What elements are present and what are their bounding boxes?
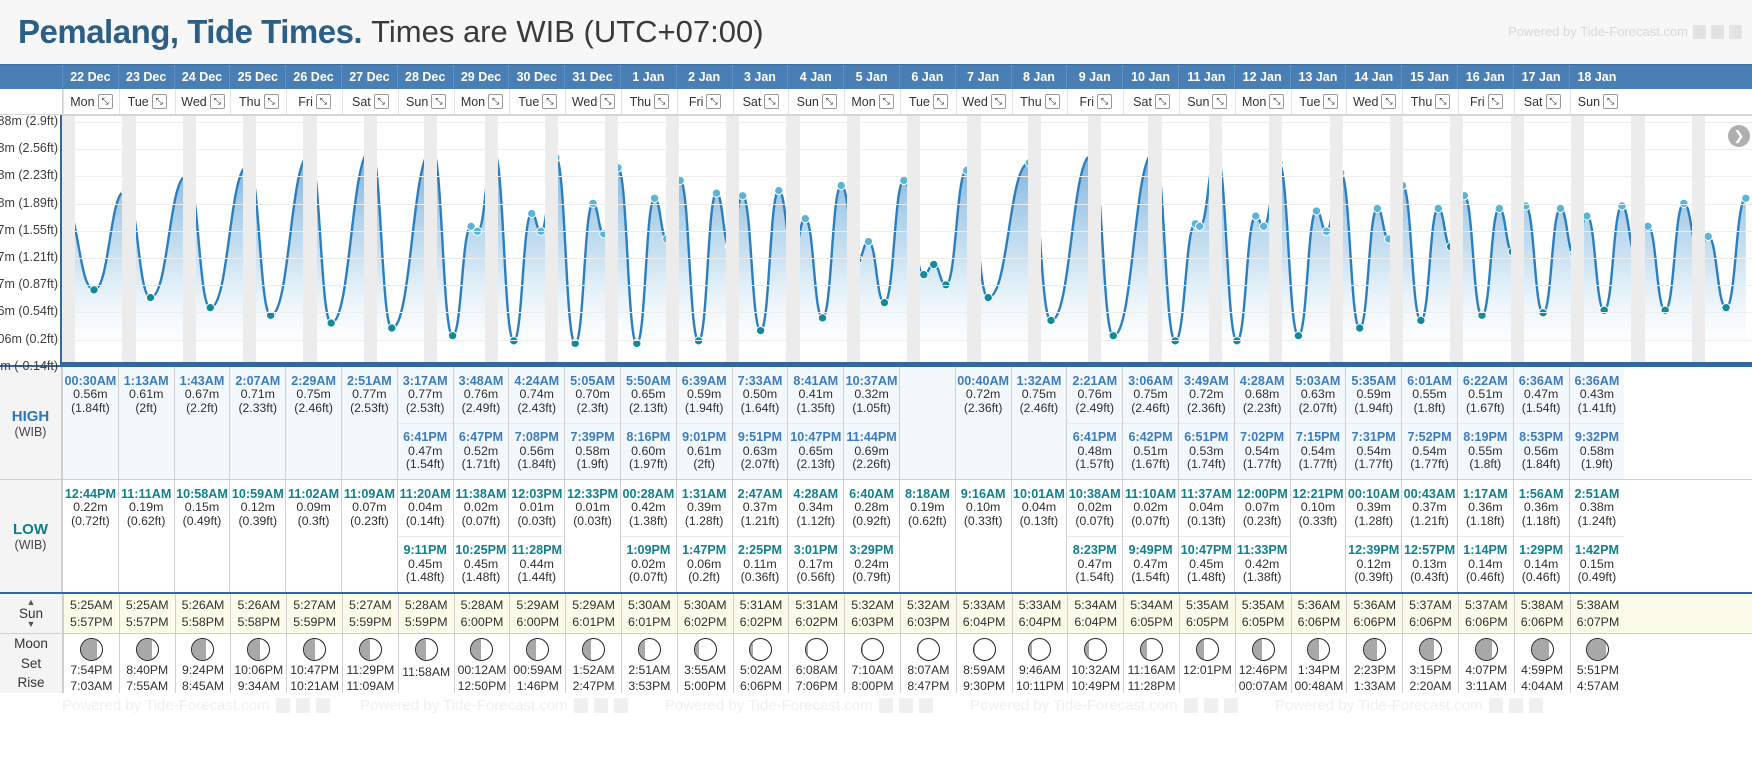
footer-logo-icon-1 [276,698,290,713]
expand-day-icon[interactable]: ⤡ [374,94,389,109]
moon-set-time: 11:16AM [1128,663,1176,677]
moon-phase-icon [1140,638,1163,661]
sunset-time: 6:05PM [1130,615,1173,629]
high-tide-cell: 2:07AM0.71m(2.33ft) [229,367,285,479]
expand-day-icon[interactable]: ⤡ [1488,94,1503,109]
tide-height-feet: (0.46ft) [1522,571,1561,585]
tide-time: 6:42PM [1128,430,1172,444]
tide-time: 8:18AM [905,487,950,501]
moon-rise-time: 11:58AM [402,665,450,679]
tide-time: 2:07AM [235,374,280,388]
sun-cell: 5:26AM5:58PM [230,594,286,633]
tide-data-point [712,189,720,197]
low-tide-event: 11:33PM0.42m(1.38ft) [1235,536,1290,593]
chart-day-stripe [907,116,920,362]
tide-height-feet: (1.94ft) [1354,402,1393,416]
expand-day-icon[interactable]: ⤡ [822,94,837,109]
tide-time: 1:32AM [1017,374,1062,388]
sun-cell: 5:31AM6:02PM [733,594,789,633]
weekday-text: Mon [70,95,94,109]
tide-height-feet: (1.77ft) [1299,458,1338,472]
sunset-time: 6:05PM [1242,615,1285,629]
expand-day-icon[interactable]: ⤡ [1435,94,1450,109]
low-tide-event: 9:16AM0.10m(0.33ft) [956,480,1011,536]
weekday-cell: Tue⤡ [1291,89,1347,114]
moon-rise-time: 1:33AM [1354,679,1396,693]
sunset-time: 5:57PM [126,615,169,629]
sunrise-time: 5:36AM [1353,598,1396,612]
high-tide-cell: 3:06AM0.75m(2.46ft)6:42PM0.51m(1.67ft) [1122,367,1178,479]
tide-height-metric: 0.09m [296,501,330,515]
expand-day-icon[interactable]: ⤡ [991,94,1006,109]
tide-time: 6:36AM [1519,374,1564,388]
low-tide-cell: 11:20AM0.04m(0.14ft)9:11PM0.45m(1.48ft) [397,480,453,592]
tide-time: 11:20AM [400,487,451,501]
tide-time: 1:14PM [1463,543,1507,557]
high-tide-cell: 2:51AM0.77m(2.53ft) [341,367,397,479]
high-tide-cell: 2:29AM0.75m(2.46ft) [285,367,341,479]
expand-day-icon[interactable]: ⤡ [1045,94,1060,109]
tide-data-point [1252,212,1260,220]
moon-cell: 11:58AM [398,634,454,693]
tide-time: 1:31AM [682,487,727,501]
low-tide-cell: 12:44PM0.22m(0.72ft) [62,480,118,592]
date-header-cell[interactable]: 25 Dec [229,65,285,89]
tide-time: 2:29AM [291,374,336,388]
tide-height-feet: (0.14ft) [406,515,445,529]
weekday-text: Fri [1470,95,1485,109]
sunset-time: 6:04PM [1019,615,1062,629]
date-header-cell[interactable]: 1 Jan [620,65,676,89]
chart-day-stripe [1088,116,1101,362]
date-header-cell[interactable]: 24 Dec [174,65,230,89]
y-axis-tick-label: 0.37m (1.21ft) [0,250,58,264]
sunrise-time: 5:29AM [516,598,559,612]
tide-time: 11:37AM [1181,487,1232,501]
high-tide-event: 6:41PM0.47m(1.54ft) [398,423,453,480]
footer-text-3: Powered by Tide-Forecast.com [665,697,873,714]
expand-day-icon[interactable]: ⤡ [1155,94,1170,109]
chart-day-stripe [424,116,437,362]
tide-height-metric: 0.04m [1022,501,1056,515]
moon-cell: 5:02AM6:06PM [733,634,789,693]
low-tide-event: 2:47AM0.37m(1.21ft) [733,480,788,536]
expand-day-icon[interactable]: ⤡ [152,94,167,109]
scroll-right-button[interactable]: ❯ [1728,125,1750,147]
tide-data-point [1644,222,1652,230]
sunset-time: 6:07PM [1577,615,1620,629]
tide-time: 5:03AM [1296,374,1341,388]
moon-phase-icon [303,638,326,661]
expand-day-icon[interactable]: ⤡ [1323,94,1338,109]
tide-height-feet: (1.97ft) [629,458,668,472]
low-tide-event: 11:10AM0.02m(0.07ft) [1123,480,1178,536]
tide-height-feet: (2.07ft) [1299,402,1338,416]
tide-height-feet: (1.74ft) [1187,458,1226,472]
weekday-cell: Sat⤡ [342,89,398,114]
footer-watermark-2: Powered by Tide-Forecast.com [360,697,628,714]
high-tide-event: 3:06AM0.75m(2.46ft) [1123,367,1178,423]
expand-day-icon[interactable]: ⤡ [1546,94,1561,109]
tide-data-point [1373,204,1381,212]
tide-height-metric: 0.02m [631,558,665,572]
high-tide-event: 11:44PM0.69m(2.26ft) [844,423,899,480]
low-tide-event: 8:23PM0.47m(1.54ft) [1067,536,1122,593]
sunrise-time: 5:27AM [293,598,336,612]
weekday-cell: Thu⤡ [230,89,286,114]
expand-day-icon[interactable]: ⤡ [98,94,113,109]
high-tide-event: 1:32AM0.75m(2.46ft) [1012,367,1067,423]
date-header-cell[interactable]: 8 Jan [1011,65,1067,89]
low-tide-cell: 00:10AM0.39m(1.28ft)12:39PM0.12m(0.39ft) [1345,480,1401,592]
tide-height-feet: (1.38ft) [1243,571,1282,585]
sun-cell: 5:34AM6:04PM [1067,594,1123,633]
date-header-cell[interactable]: 23 Dec [118,65,174,89]
expand-day-icon[interactable]: ⤡ [879,94,894,109]
high-tide-cell: 8:41AM0.41m(1.35ft)10:47PM0.65m(2.13ft) [787,367,843,479]
tide-height-metric: 0.58m [1580,445,1614,459]
date-header-cell[interactable]: 14 Jan [1345,65,1401,89]
moon-set-time: 3:15PM [1410,663,1452,677]
tide-height-metric: 0.11m [743,558,777,572]
moon-rise-time: 5:00PM [684,679,726,693]
moon-set-time: 1:34PM [1298,663,1340,677]
high-tide-cell: 00:40AM0.72m(2.36ft) [955,367,1011,479]
low-label-text: LOW [13,521,48,538]
tide-height-metric: 0.01m [520,501,554,515]
tide-height-metric: 0.42m [1245,558,1279,572]
date-header-cell[interactable]: 3 Jan [732,65,788,89]
moon-cell: 3:55AM5:00PM [677,634,733,693]
tide-height-feet: (0.72ft) [71,515,110,529]
expand-day-icon[interactable]: ⤡ [1381,94,1396,109]
tide-time: 6:40AM [849,487,894,501]
footer-alert-icon-1 [316,698,330,713]
tide-time: 11:02AM [288,487,339,501]
expand-day-icon[interactable]: ⤡ [654,94,669,109]
low-tide-cell: 00:28AM0.42m(1.38ft)1:09PM0.02m(0.07ft) [620,480,676,592]
sun-cell: 5:30AM6:02PM [677,594,733,633]
footer-logo-icon-3 [879,698,893,713]
weekday-cell: Mon⤡ [1235,89,1291,114]
tide-height-feet: (1.38ft) [629,515,668,529]
low-tide-event: 12:03PM0.01m(0.03ft) [509,480,564,536]
expand-day-icon[interactable]: ⤡ [210,94,225,109]
sun-cell: 5:27AM5:59PM [342,594,398,633]
tide-height-feet: (1.28ft) [685,515,724,529]
low-tide-cell: 4:28AM0.34m(1.12ft)3:01PM0.17m(0.56ft) [787,480,843,592]
date-header-cell[interactable]: 27 Dec [341,65,397,89]
moon-phase-icon [191,638,214,661]
tide-height-feet: (1.48ft) [1187,571,1226,585]
moon-phase-icon [749,638,772,661]
tide-height-metric: 0.14m [1524,558,1558,572]
expand-day-icon[interactable]: ⤡ [706,94,721,109]
date-header-cell[interactable]: 6 Jan [899,65,955,89]
moon-set-time: 6:08AM [796,663,838,677]
sunrise-time: 5:26AM [182,598,225,612]
y-axis-tick-label: 0.68m (2.23ft) [0,168,58,182]
moon-set-time: 10:32AM [1071,663,1120,677]
high-tide-event: 3:49AM0.72m(2.36ft) [1179,367,1234,423]
footer-text-1: Powered by Tide-Forecast.com [62,697,270,714]
date-header-cell[interactable]: 16 Jan [1457,65,1513,89]
expand-day-icon[interactable]: ⤡ [1097,94,1112,109]
tide-height-metric: 0.75m [296,388,330,402]
tide-height-metric: 0.74m [520,388,554,402]
weekday-text: Sun [406,95,428,109]
date-header-cell[interactable]: 31 Dec [564,65,620,89]
low-label-tz: (WIB) [15,538,47,552]
footer-watermark-3: Powered by Tide-Forecast.com [665,697,933,714]
sun-cell: 5:36AM6:06PM [1291,594,1347,633]
tide-time: 10:01AM [1013,487,1065,501]
high-tide-cell: 6:22AM0.51m(1.67ft)8:19PM0.55m(1.8ft) [1457,367,1513,479]
date-header-spacer [0,65,62,89]
tide-time: 11:38AM [455,487,506,501]
sunset-time: 6:06PM [1465,615,1508,629]
expand-day-icon[interactable]: ⤡ [431,94,446,109]
sunset-arrow-icon: ▼ [27,620,36,629]
tide-height-metric: 0.77m [352,388,386,402]
high-tide-event: 5:03AM0.63m(2.07ft) [1291,367,1346,423]
expand-day-icon[interactable]: ⤡ [600,94,615,109]
expand-day-icon[interactable]: ⤡ [488,94,503,109]
date-header-cell[interactable]: 2 Jan [676,65,732,89]
tide-height-metric: 0.17m [799,558,833,572]
date-header-cell[interactable]: 29 Dec [453,65,509,89]
high-tide-event: 9:32PM0.58m(1.9ft) [1570,423,1625,480]
tide-time: 7:39PM [571,430,615,444]
sunrise-time: 5:38AM [1521,598,1564,612]
chart-day-stripe [1209,116,1222,362]
y-axis-tick-label: 0.58m (1.89ft) [0,196,58,210]
moon-phase-icon [247,638,270,661]
date-header-cell[interactable]: 15 Jan [1401,65,1457,89]
date-header-cell[interactable]: 10 Jan [1122,65,1178,89]
tide-height-metric: 0.04m [1189,501,1223,515]
footer-share-icon-5 [1509,698,1523,713]
sun-cell: 5:33AM6:04PM [956,594,1012,633]
weekday-cell: Fri⤡ [286,89,342,114]
tide-data-point [1233,337,1241,345]
moon-rise-time: 4:04AM [1521,679,1563,693]
weekday-text: Wed [181,95,206,109]
tide-time: 2:47AM [738,487,783,501]
tide-height-metric: 0.59m [687,388,721,402]
tide-height-metric: 0.07m [1245,501,1279,515]
tide-time: 8:16PM [626,430,670,444]
moon-label-text: Moon [14,634,48,654]
date-header-cell[interactable]: 18 Jan [1569,65,1625,89]
chart-day-stripe [847,116,860,362]
moon-set-time: 4:07PM [1465,663,1507,677]
moon-rise-time: 8:00PM [852,679,894,693]
footer-alert-icon-2 [614,698,628,713]
tide-height-metric: 0.76m [1078,388,1112,402]
date-text: 11 Jan [1187,70,1225,84]
tide-height-metric: 0.37m [743,501,777,515]
sunrise-time: 5:27AM [349,598,392,612]
tide-height-metric: 0.63m [1301,388,1335,402]
chart-day-stripe [1269,116,1282,362]
date-header-cell[interactable]: 26 Dec [285,65,341,89]
moon-cell: 1:52AM2:47PM [565,634,621,693]
tide-height-metric: 0.45m [408,558,442,572]
tide-time: 00:40AM [957,374,1009,388]
tide-time: 5:50AM [626,374,671,388]
tide-data-point [510,337,518,345]
low-tide-cell: 11:11AM0.19m(0.62ft) [118,480,174,592]
tide-data-point [1417,316,1425,324]
tide-height-feet: (1.9ft) [1581,458,1613,472]
moon-set-time: 8:59AM [963,663,1005,677]
high-tide-event: 6:01AM0.55m(1.8ft) [1402,367,1457,423]
date-header-cell[interactable]: 22 Dec [62,65,118,89]
weekday-text: Tue [1299,95,1320,109]
sun-label-text: Sun [19,607,43,621]
tide-time: 3:17AM [403,374,448,388]
tide-height-feet: (0.33ft) [1299,515,1338,529]
tide-data-point [1704,232,1712,240]
high-tide-cell: 6:01AM0.55m(1.8ft)7:52PM0.54m(1.77ft) [1401,367,1457,479]
tide-time: 10:38AM [1069,487,1121,501]
tide-time: 10:47PM [790,430,841,444]
expand-day-icon[interactable]: ⤡ [316,94,331,109]
tide-height-metric: 0.48m [1078,445,1112,459]
tide-height-feet: (0.46ft) [1466,571,1505,585]
weekday-cell: Tue⤡ [509,89,565,114]
date-text: 4 Jan [800,70,832,84]
date-text: 24 Dec [182,70,222,84]
high-tide-event: 00:30AM0.56m(1.84ft) [63,367,118,423]
tide-time: 8:53PM [1519,430,1563,444]
tide-height-feet: (2.33ft) [238,402,277,416]
moon-rise-time: 3:11AM [1466,679,1507,693]
sunset-time: 6:00PM [461,615,504,629]
tide-height-feet: (0.43ft) [1410,571,1449,585]
tide-height-feet: (2.49ft) [462,402,501,416]
date-header-cell[interactable]: 9 Jan [1066,65,1122,89]
tide-height-feet: (0.39ft) [238,515,277,529]
tide-data-point [1742,194,1750,202]
tide-time: 12:00PM [1237,487,1288,501]
tide-height-feet: (0.23ft) [1243,515,1282,529]
tide-time: 4:24AM [514,374,559,388]
tide-height-feet: (0.49ft) [1578,571,1617,585]
weekday-cell: Wed⤡ [956,89,1012,114]
tide-time: 12:03PM [511,487,562,501]
tide-time: 10:37AM [846,374,898,388]
y-axis-tick-label: 0.27m (0.87ft) [0,277,58,291]
high-tide-event: 7:02PM0.54m(1.77ft) [1235,423,1290,480]
expand-day-icon[interactable]: ⤡ [1603,94,1618,109]
moon-rise-time: 10:49PM [1071,679,1120,693]
tide-time: 3:49AM [1184,374,1229,388]
chart-day-stripe [243,116,256,362]
sunset-time: 6:01PM [572,615,615,629]
moon-phase-icon [359,638,382,661]
expand-day-icon[interactable]: ⤡ [1269,94,1284,109]
tide-height-metric: 0.56m [73,388,107,402]
tide-time: 2:21AM [1072,374,1117,388]
low-tide-event: 2:25PM0.11m(0.36ft) [733,536,788,593]
sunset-time: 6:06PM [1521,615,1564,629]
sunrise-time: 5:38AM [1577,598,1620,612]
high-tide-event: 7:08PM0.56m(1.84ft) [509,423,564,480]
y-axis-tick-label: 0.47m (1.55ft) [0,223,58,237]
footer-text-2: Powered by Tide-Forecast.com [360,697,568,714]
date-text: 8 Jan [1023,70,1055,84]
date-header-cell[interactable]: 12 Jan [1234,65,1290,89]
page-footer: Powered by Tide-Forecast.com Powered by … [0,693,1752,717]
tide-height-feet: (0.2ft) [688,571,720,585]
low-tide-event: 1:17AM0.36m(1.18ft) [1458,480,1513,536]
date-header-cell[interactable]: 4 Jan [787,65,843,89]
low-tide-event: 1:29PM0.14m(0.46ft) [1514,536,1569,593]
tide-height-metric: 0.47m [1078,558,1112,572]
weekday-cell: Mon⤡ [454,89,510,114]
expand-day-icon[interactable]: ⤡ [764,94,779,109]
high-tide-event: 7:52PM0.54m(1.77ft) [1402,423,1457,480]
sunrise-time: 5:29AM [572,598,615,612]
expand-day-icon[interactable]: ⤡ [542,94,557,109]
weekday-cell: Fri⤡ [677,89,733,114]
tide-height-metric: 0.45m [1189,558,1223,572]
moon-label: Moon Set Rise [0,634,63,693]
expand-day-icon[interactable]: ⤡ [933,94,948,109]
tide-chart: 0.88m (2.9ft)0.78m (2.56ft)0.68m (2.23ft… [0,115,1752,365]
tide-height-feet: (0.07ft) [629,571,668,585]
tide-height-metric: 0.69m [854,445,888,459]
tide-time: 12:39PM [1348,543,1399,557]
low-tide-cell: 00:43AM0.37m(1.21ft)12:57PM0.13m(0.43ft) [1401,480,1457,592]
high-tide-event: 00:40AM0.72m(2.36ft) [956,367,1011,423]
date-header-cell[interactable]: 5 Jan [843,65,899,89]
tide-height-metric: 0.14m [1468,558,1502,572]
expand-day-icon[interactable]: ⤡ [264,94,279,109]
tide-data-point [801,214,809,222]
date-header-cell[interactable]: 17 Jan [1513,65,1569,89]
date-header-cell[interactable]: 13 Jan [1290,65,1346,89]
weekday-text: Thu [239,95,261,109]
sunrise-time: 5:31AM [795,598,838,612]
date-header-cell[interactable]: 7 Jan [955,65,1011,89]
chart-day-stripe [62,116,75,362]
tide-height-metric: 0.56m [1524,445,1558,459]
chart-day-stripe [485,116,498,362]
date-header-cell[interactable]: 11 Jan [1178,65,1234,89]
moon-rise-time: 10:11PM [1016,679,1064,693]
moon-rise-time: 12:50PM [458,679,507,693]
date-header-cell[interactable]: 28 Dec [397,65,453,89]
tide-height-feet: (0.33ft) [964,515,1003,529]
expand-day-icon[interactable]: ⤡ [1212,94,1227,109]
y-axis-tick-label: 0.16m (0.54ft) [0,304,58,318]
tide-time: 7:15PM [1296,430,1340,444]
weekday-cell: Sun⤡ [788,89,844,114]
tide-height-metric: 0.65m [631,388,665,402]
moon-set-time: 5:02AM [740,663,782,677]
low-tide-event: 00:43AM0.37m(1.21ft) [1402,480,1457,536]
date-header-cell[interactable]: 30 Dec [508,65,564,89]
sunset-time: 6:02PM [740,615,783,629]
tide-height-feet: (1.67ft) [1466,402,1505,416]
weekday-cell: Thu⤡ [1012,89,1068,114]
sunrise-time: 5:25AM [70,598,113,612]
high-tide-cell: 3:48AM0.76m(2.49ft)6:47PM0.52m(1.71ft) [453,367,509,479]
chart-day-stripe [726,116,739,362]
